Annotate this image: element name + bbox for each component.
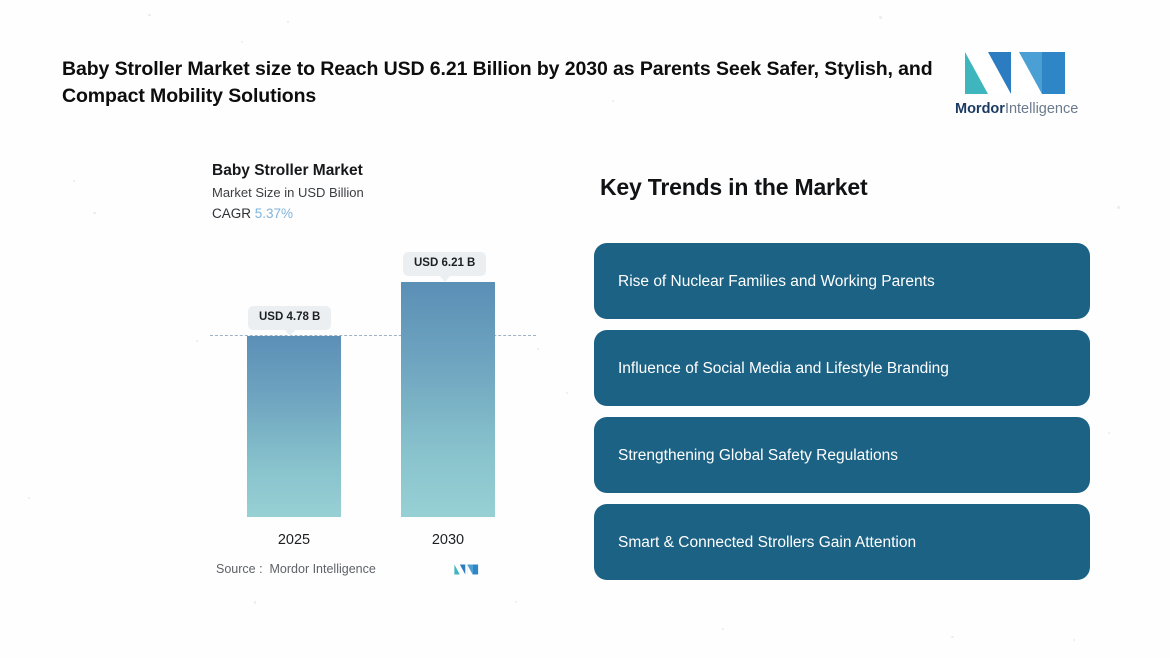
trend-card-label: Influence of Social Media and Lifestyle … (618, 358, 949, 379)
source-label: Source : (216, 562, 263, 576)
bar-value-label-2030: USD 6.21 B (403, 252, 486, 276)
bar-2030 (401, 282, 495, 517)
mordor-logo-mark (955, 48, 1073, 98)
infographic-canvas: Baby Stroller Market size to Reach USD 6… (0, 0, 1170, 658)
brand-name-light: Intelligence (1005, 101, 1078, 117)
chart-source-text: Source : Mordor Intelligence (216, 562, 376, 576)
background-speck (1108, 432, 1110, 434)
background-speck (254, 601, 256, 604)
background-speck (1073, 639, 1075, 641)
chart-source-row: Source : Mordor Intelligence (216, 558, 542, 580)
trend-card-4[interactable]: Smart & Connected Strollers Gain Attenti… (594, 504, 1090, 580)
background-speck (566, 392, 568, 394)
mordor-intelligence-logo: MordorIntelligence (955, 48, 1073, 120)
market-size-chart: Baby Stroller Market Market Size in USD … (212, 160, 542, 580)
background-speck (1117, 206, 1120, 209)
background-speck (93, 212, 96, 214)
trend-card-1[interactable]: Rise of Nuclear Families and Working Par… (594, 243, 1090, 319)
background-speck (28, 497, 30, 499)
trend-card-label: Rise of Nuclear Families and Working Par… (618, 271, 935, 292)
trend-card-list: Rise of Nuclear Families and Working Par… (594, 243, 1090, 591)
trend-card-2[interactable]: Influence of Social Media and Lifestyle … (594, 330, 1090, 406)
chart-plot-area: USD 4.78 B USD 6.21 B 2025 2030 Source :… (212, 160, 542, 580)
background-speck (196, 340, 198, 342)
mordor-logo-mark-small (452, 561, 480, 578)
trends-heading: Key Trends in the Market (600, 174, 867, 201)
source-name: Mordor Intelligence (270, 562, 376, 576)
page-title: Baby Stroller Market size to Reach USD 6… (62, 56, 952, 110)
mordor-logo-wordmark: MordorIntelligence (955, 101, 1073, 117)
background-speck (287, 21, 289, 23)
trend-card-3[interactable]: Strengthening Global Safety Regulations (594, 417, 1090, 493)
trend-card-label: Strengthening Global Safety Regulations (618, 445, 898, 466)
bar-value-label-2025: USD 4.78 B (248, 306, 331, 330)
background-speck (879, 16, 882, 19)
x-axis-label-2030: 2030 (401, 532, 495, 548)
background-speck (148, 14, 151, 16)
background-speck (951, 636, 954, 638)
background-speck (73, 180, 75, 182)
brand-name-bold: Mordor (955, 101, 1005, 117)
trend-card-label: Smart & Connected Strollers Gain Attenti… (618, 532, 916, 553)
background-speck (241, 41, 243, 43)
x-axis-label-2025: 2025 (247, 532, 341, 548)
background-speck (515, 601, 517, 603)
background-speck (722, 628, 724, 630)
bar-2025 (247, 336, 341, 517)
